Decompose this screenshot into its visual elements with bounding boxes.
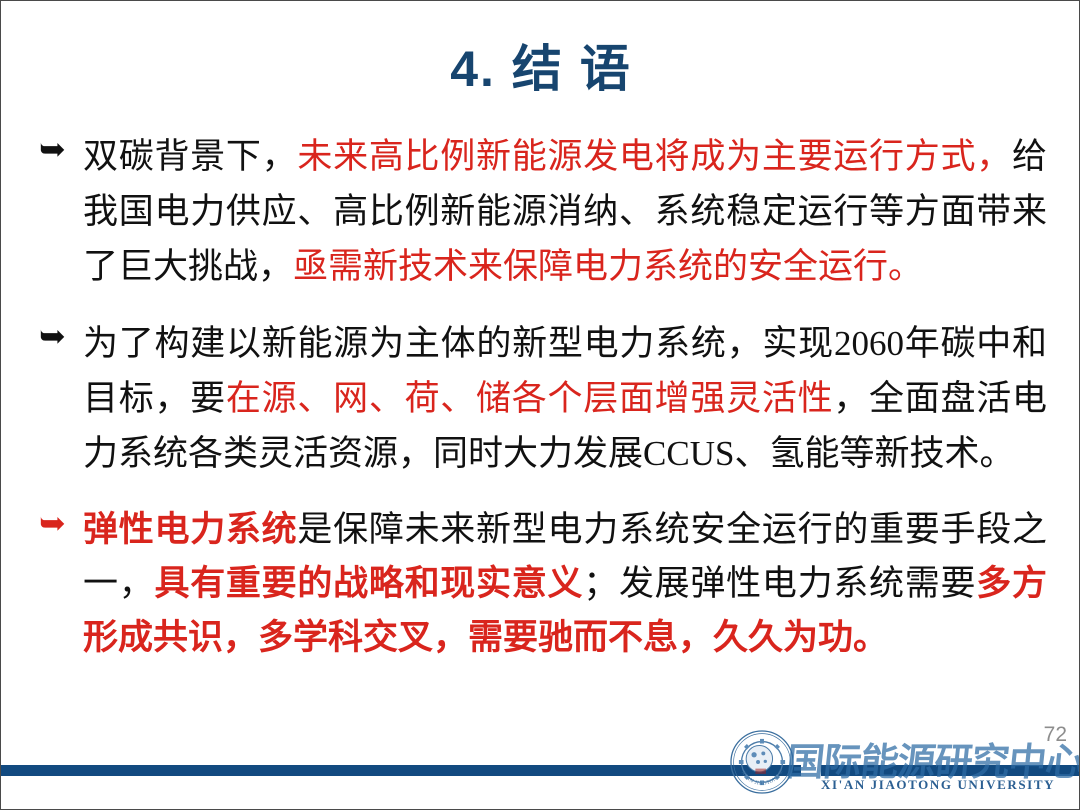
- text-run: 未来高比例新能源发电将成为主要运行方式，: [297, 137, 1012, 176]
- arrow-bullet-icon: ➥: [39, 507, 66, 539]
- bullet-text: 弹性电力系统是保障未来新型电力系统安全运行的重要手段之一，具有重要的战略和现实意…: [83, 503, 1047, 665]
- text-run: CCUS: [643, 434, 734, 473]
- text-run: 亟需新技术来保障电力系统的安全运行。: [293, 247, 923, 286]
- text-run: 弹性电力系统: [83, 510, 297, 549]
- bullet-text: 为了构建以新能源为主体的新型电力系统，实现2060年碳中和目标，要在源、网、荷、…: [83, 316, 1047, 481]
- footer-bar-left: [1, 765, 801, 776]
- page-number: 72: [1044, 723, 1067, 747]
- text-run: 双碳背景下，: [83, 137, 297, 176]
- bullet-text: 双碳背景下，未来高比例新能源发电将成为主要运行方式，给我国电力供应、高比例新能源…: [83, 129, 1047, 294]
- text-run: 在源、网、荷、储各个层面增强灵活性: [226, 379, 833, 418]
- organization-logo: XI'AN JIAOTONG UNIVERSITY 国际能源研究中心 XI'AN…: [729, 725, 1029, 801]
- text-run: 、氢能等新技术。: [734, 434, 1014, 473]
- arrow-bullet-icon: ➥: [39, 320, 66, 352]
- arrow-bullet-icon: ➥: [39, 133, 66, 165]
- text-run: 为了构建以新能源为主体的新型电力系统，实现: [83, 324, 834, 363]
- slide-canvas: 4. 结 语 ➥ 双碳背景下，未来高比例新能源发电将成为主要运行方式，给我国电力…: [0, 0, 1080, 810]
- bullet-item: ➥ 为了构建以新能源为主体的新型电力系统，实现2060年碳中和目标，要在源、网、…: [35, 316, 1047, 481]
- bullet-item: ➥ 弹性电力系统是保障未来新型电力系统安全运行的重要手段之一，具有重要的战略和现…: [35, 503, 1047, 665]
- text-run: 2060: [834, 324, 904, 363]
- bullet-item: ➥ 双碳背景下，未来高比例新能源发电将成为主要运行方式，给我国电力供应、高比例新…: [35, 129, 1047, 294]
- page-title: 4. 结 语: [1, 29, 1080, 101]
- logo-english-text: XI'AN JIAOTONG UNIVERSITY: [821, 777, 1055, 793]
- slide-footer: XI'AN JIAOTONG UNIVERSITY 国际能源研究中心 XI'AN…: [1, 723, 1080, 809]
- slide-body: ➥ 双碳背景下，未来高比例新能源发电将成为主要运行方式，给我国电力供应、高比例新…: [35, 129, 1047, 687]
- text-run: 具有重要的战略和现实意义: [154, 564, 583, 603]
- text-run: ；发展弹性电力系统需要: [583, 564, 976, 603]
